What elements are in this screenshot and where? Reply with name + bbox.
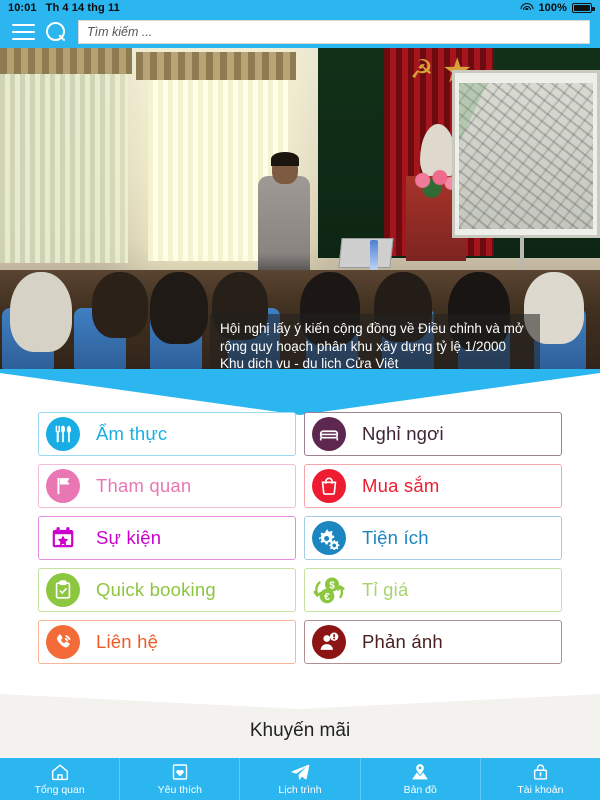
tab-tai-khoan[interactable]: Tài khoản [481, 758, 600, 800]
currency-exchange-icon: $ € [312, 573, 346, 607]
status-date: Th 4 14 thg 11 [46, 2, 120, 14]
menu-cell: Sự kiện [38, 512, 296, 564]
svg-text:€: € [324, 591, 330, 603]
menu-item-su-kien[interactable]: Sự kiện [38, 516, 296, 560]
status-bar-right: 100% [520, 2, 592, 14]
lock-icon [531, 762, 550, 782]
map-pin-icon [409, 762, 431, 782]
tab-yeu-thich[interactable]: Yêu thích [120, 758, 240, 800]
status-time: 10:01 [8, 2, 37, 14]
app-root: 10:01 Th 4 14 thg 11 100% ☭ ★ [0, 0, 600, 800]
tab-label: Lịch trình [278, 784, 321, 796]
menu-item-ti-gia[interactable]: $ € Tỉ giá [304, 568, 562, 612]
tab-label: Tổng quan [34, 784, 84, 796]
menu-item-label: Mua sắm [362, 475, 439, 497]
menu-cell: $ € Tỉ giá [304, 564, 562, 616]
bottom-tab-bar: Tổng quan Yêu thích Lịch trình [0, 758, 600, 800]
tab-label: Tài khoản [517, 784, 563, 796]
menu-item-lien-he[interactable]: Liên hệ [38, 620, 296, 664]
promo-title: Khuyến mãi [250, 720, 350, 742]
status-bar-left: 10:01 Th 4 14 thg 11 [8, 2, 120, 14]
menu-item-label: Quick booking [96, 579, 216, 601]
menu-cell: Nghỉ ngơi [304, 408, 562, 460]
menu-grid: Ẩm thực Nghỉ ngơi [0, 408, 600, 668]
menu-cell: Mua sắm [304, 460, 562, 512]
heart-icon [170, 762, 190, 782]
bed-icon [312, 417, 346, 451]
phone-icon [46, 625, 80, 659]
header-search-bar [0, 16, 600, 48]
tab-lich-trinh[interactable]: Lịch trình [240, 758, 360, 800]
menu-item-label: Nghỉ ngơi [362, 423, 444, 445]
menu-item-phan-anh[interactable]: Phản ánh [304, 620, 562, 664]
hero-caption: Hội nghị lấy ý kiến cộng đồng về Điều ch… [210, 314, 540, 370]
calendar-star-icon [46, 521, 80, 555]
shopping-bag-icon [312, 469, 346, 503]
menu-item-am-thuc[interactable]: Ẩm thực [38, 412, 296, 456]
menu-cell: Tiện ích [304, 512, 562, 564]
menu-item-label: Sự kiện [96, 527, 161, 549]
menu-item-tham-quan[interactable]: Tham quan [38, 464, 296, 508]
menu-item-label: Tham quan [96, 475, 191, 497]
hamburger-menu-icon[interactable] [12, 24, 35, 40]
menu-item-label: Tiện ích [362, 527, 429, 549]
menu-item-quick-booking[interactable]: Quick booking [38, 568, 296, 612]
menu-item-mua-sam[interactable]: Mua sắm [304, 464, 562, 508]
menu-item-label: Tỉ giá [362, 579, 408, 601]
menu-item-label: Liên hệ [96, 631, 158, 653]
menu-item-nghi-ngoi[interactable]: Nghỉ ngơi [304, 412, 562, 456]
tab-ban-do[interactable]: Bản đồ [361, 758, 481, 800]
menu-cell: Tham quan [38, 460, 296, 512]
flag-icon [46, 469, 80, 503]
cutlery-icon [46, 417, 80, 451]
menu-cell: Quick booking [38, 564, 296, 616]
battery-icon [572, 3, 592, 13]
battery-percent-label: 100% [538, 2, 567, 14]
clipboard-check-icon [46, 573, 80, 607]
menu-cell: Liên hệ [38, 616, 296, 668]
tab-tong-quan[interactable]: Tổng quan [0, 758, 120, 800]
menu-cell: Phản ánh [304, 616, 562, 668]
menu-cell: Ẩm thực [38, 408, 296, 460]
status-bar: 10:01 Th 4 14 thg 11 100% [0, 0, 600, 16]
search-icon[interactable] [46, 22, 67, 43]
hero-banner[interactable]: ☭ ★ Hội ngh [0, 48, 600, 370]
feedback-person-icon [312, 625, 346, 659]
tab-label: Bản đồ [404, 784, 437, 796]
menu-item-tien-ich[interactable]: Tiện ích [304, 516, 562, 560]
tab-label: Yêu thích [158, 784, 202, 796]
promo-section[interactable]: Khuyến mãi [0, 694, 600, 768]
paper-plane-icon [289, 762, 311, 782]
gears-icon [312, 521, 346, 555]
search-field-wrapper[interactable] [78, 20, 590, 44]
wifi-icon [520, 3, 533, 13]
menu-item-label: Phản ánh [362, 631, 443, 653]
home-icon [49, 762, 71, 782]
menu-item-label: Ẩm thực [96, 423, 167, 445]
search-input[interactable] [87, 25, 581, 39]
